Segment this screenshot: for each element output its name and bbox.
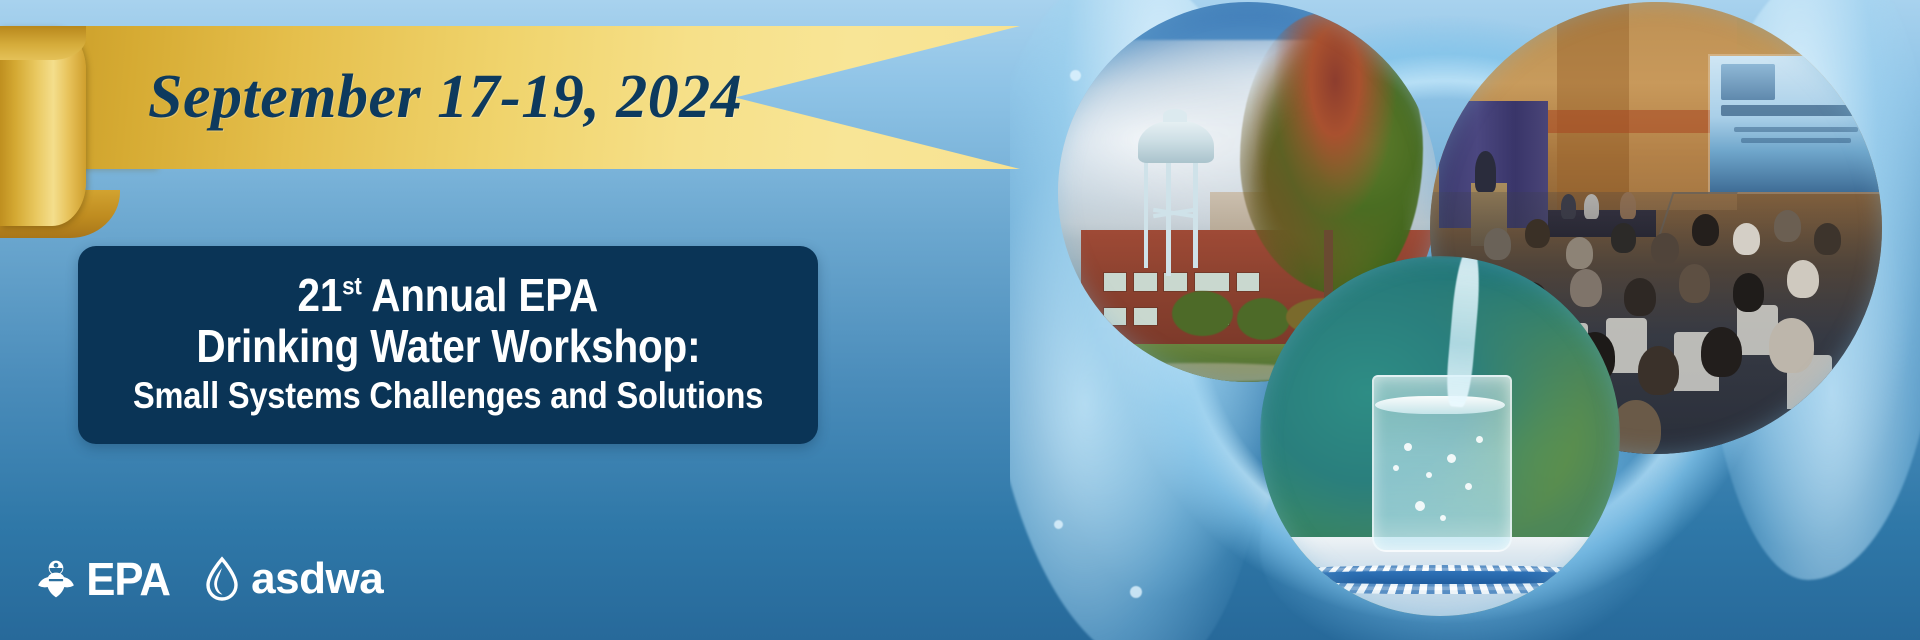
bubble — [1415, 501, 1425, 511]
audience-head — [1733, 223, 1760, 255]
bubble — [1440, 515, 1446, 521]
audience-head — [1692, 214, 1719, 246]
title-line-3: Small Systems Challenges and Solutions — [133, 376, 763, 415]
podium — [1471, 183, 1507, 246]
window — [1134, 308, 1157, 325]
audience-head — [1701, 327, 1742, 377]
window — [1104, 273, 1127, 290]
bokeh-background — [1260, 256, 1620, 616]
window — [1104, 308, 1127, 325]
drinking-glass — [1372, 375, 1513, 552]
chair-back — [1787, 355, 1832, 409]
bubble — [1426, 472, 1432, 478]
tablecloth-band — [1267, 571, 1613, 584]
presentation-screen — [1710, 56, 1882, 192]
bubble — [1393, 465, 1399, 471]
pouring-water-stream — [1444, 256, 1483, 408]
audience-head — [1774, 210, 1801, 242]
audience-head — [1484, 228, 1511, 260]
tower-leg — [1193, 162, 1198, 268]
logo-row: EPA asdwa — [34, 556, 383, 602]
audience-head — [1814, 223, 1841, 255]
audience-head — [1769, 318, 1814, 372]
screen-title-bar — [1721, 105, 1872, 116]
imagery-collage — [1010, 0, 1920, 640]
droplet-icon — [1054, 520, 1063, 529]
tower-leg — [1144, 162, 1149, 268]
bubble — [1465, 483, 1472, 490]
tower-brace — [1153, 208, 1195, 218]
audience-head — [1638, 346, 1679, 396]
title-line-2: Drinking Water Workshop: — [196, 322, 700, 371]
audience-head — [1624, 278, 1656, 316]
bubble — [1447, 454, 1456, 463]
window — [1164, 273, 1187, 290]
asdwa-wordmark: asdwa — [251, 557, 383, 601]
screen-subtitle-bar — [1734, 127, 1858, 132]
window — [1237, 273, 1260, 290]
chair-back — [1737, 305, 1778, 355]
water-tower-tank — [1138, 120, 1214, 164]
window — [1195, 273, 1229, 290]
title-ordinal-number: 21 — [298, 269, 343, 321]
wall-panel — [1557, 2, 1629, 210]
audience-head — [1679, 264, 1711, 302]
water-droplet-icon — [202, 556, 242, 602]
audience-head — [1787, 260, 1819, 298]
building-upper-block — [1210, 192, 1354, 238]
water-tower-cap — [1163, 109, 1188, 122]
stage-railing — [1657, 192, 1738, 239]
clouds — [1058, 40, 1438, 260]
autumn-tree — [1240, 13, 1422, 294]
audience-head — [1733, 273, 1765, 311]
date-ribbon: September 17-19, 2024 — [0, 26, 1030, 236]
window — [1195, 308, 1229, 325]
shrub — [1172, 291, 1233, 337]
audience-head — [1525, 219, 1550, 248]
bubble — [1476, 436, 1483, 443]
tower-brace — [1153, 208, 1195, 218]
event-banner: September 17-19, 2024 21st Annual EPA Dr… — [0, 0, 1920, 640]
title-box: 21st Annual EPA Drinking Water Workshop:… — [78, 246, 818, 444]
screen-image — [1721, 64, 1776, 99]
tower-leg — [1166, 162, 1171, 276]
bubble — [1404, 443, 1412, 451]
title-line-1-rest: Annual EPA — [362, 269, 598, 321]
panel-table-cloth — [1548, 210, 1656, 219]
droplet-icon — [1130, 586, 1142, 598]
asdwa-logo: asdwa — [202, 556, 383, 602]
photo-waterglass — [1260, 256, 1620, 616]
window — [1134, 273, 1157, 290]
screen-subtitle-bar — [1741, 138, 1851, 143]
stage-curtain — [1439, 101, 1547, 228]
water-surface — [1375, 396, 1505, 414]
event-date: September 17-19, 2024 — [38, 26, 1020, 169]
panel-table — [1548, 210, 1656, 237]
title-ordinal-suffix: st — [342, 273, 361, 301]
chair-back — [1674, 332, 1719, 391]
speaker — [1475, 151, 1495, 192]
wall-panel — [1629, 2, 1737, 210]
panelist — [1584, 194, 1599, 219]
title-line-1: 21st Annual EPA — [298, 271, 599, 320]
panelist — [1561, 194, 1576, 219]
panelist — [1620, 192, 1636, 219]
epa-logo: EPA — [34, 556, 172, 602]
epa-wordmark: EPA — [86, 556, 170, 602]
audience-head — [1651, 233, 1678, 265]
epa-flower-seal-icon — [34, 557, 78, 601]
audience-head — [1611, 223, 1636, 252]
wall-stripe — [1548, 110, 1756, 133]
